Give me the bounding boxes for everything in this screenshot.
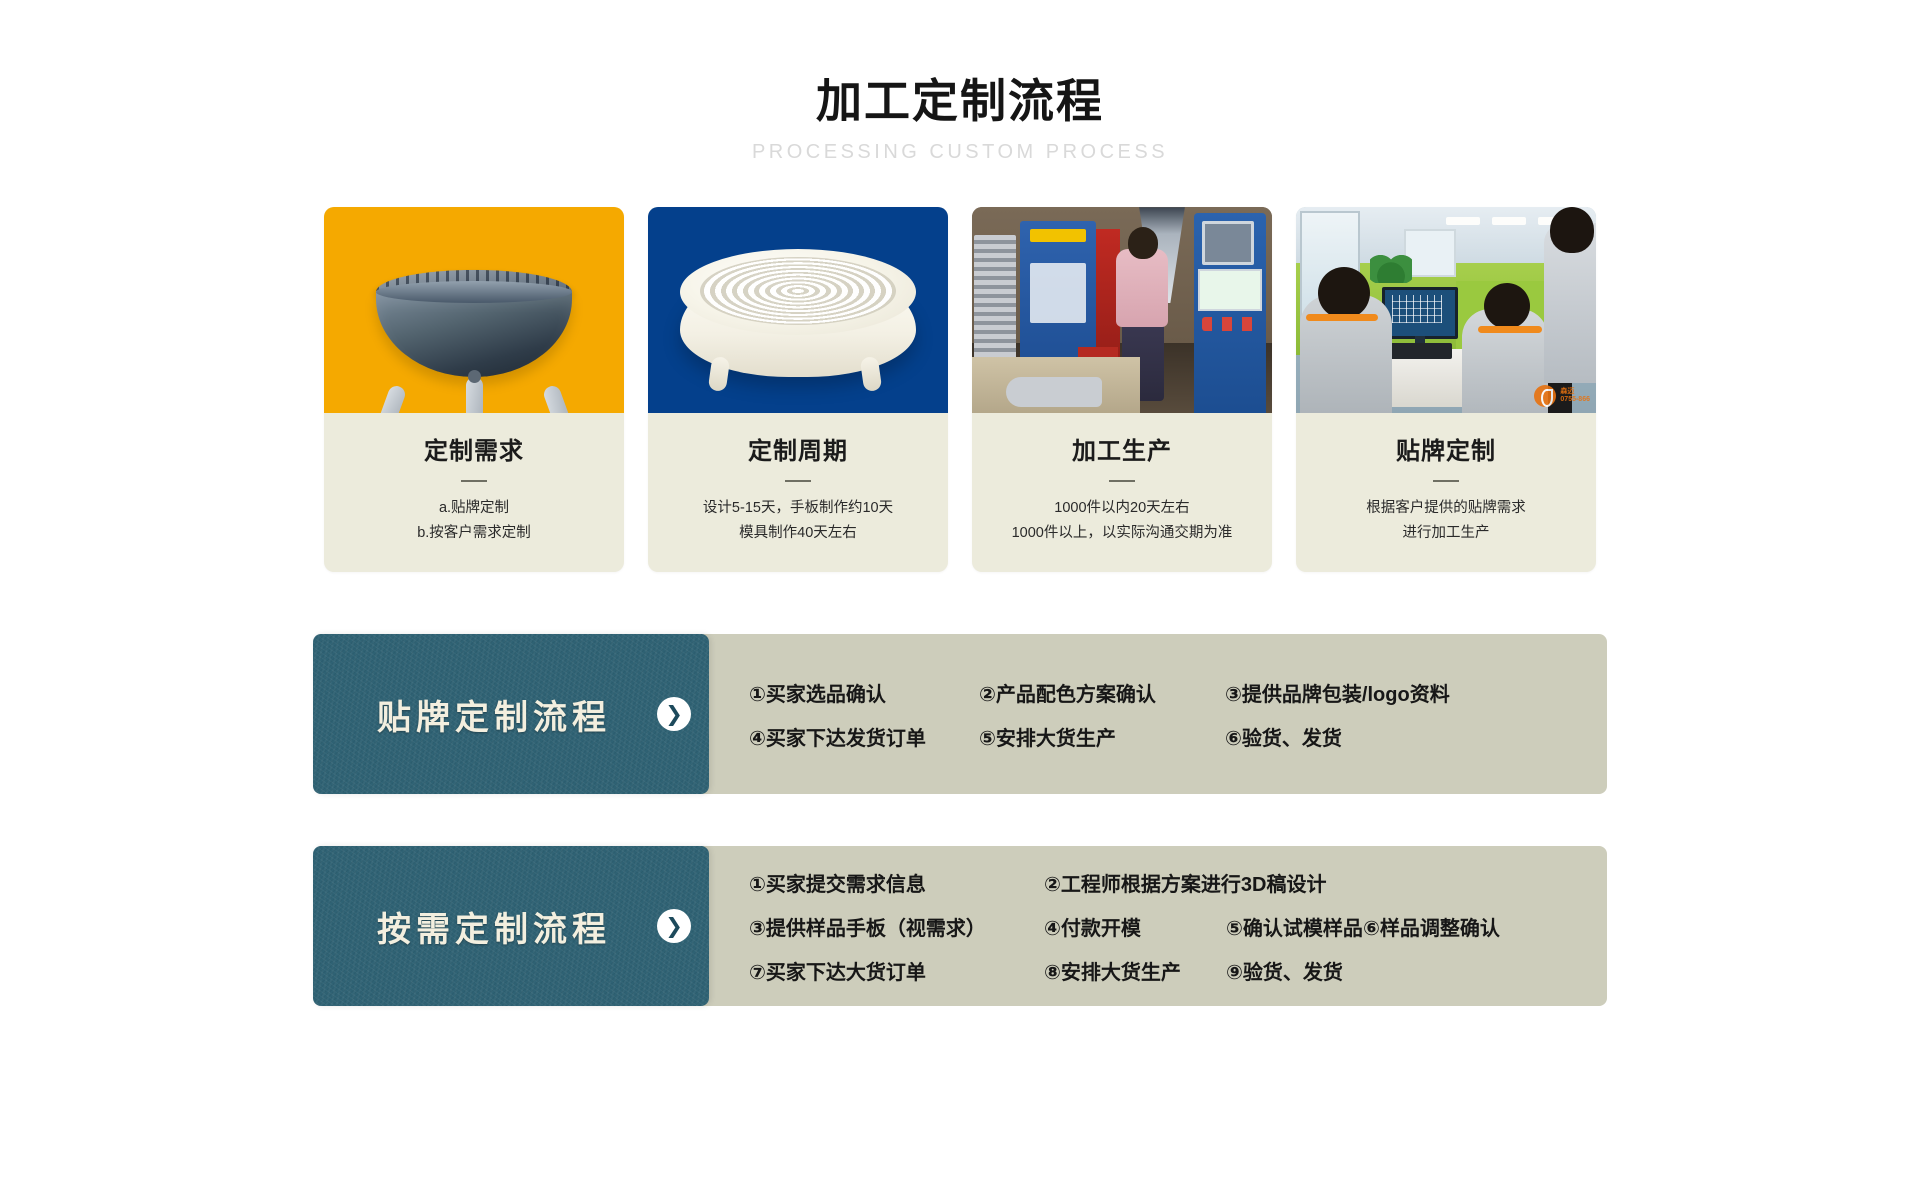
process-card-2[interactable]: 定制周期 设计5-15天，手板制作约10天 模具制作40天左右	[648, 207, 948, 572]
office-light-1	[1446, 217, 1480, 225]
card-4-desc-line-1: 根据客户提供的贴牌需求	[1310, 496, 1582, 521]
ondemand-step-8: ⑧安排大货生产	[1044, 956, 1226, 985]
ondemand-step-4: ④付款开模	[1044, 912, 1226, 941]
card-1-divider	[461, 480, 487, 482]
ondemand-step-5: ⑤确认试模样品	[1226, 912, 1363, 941]
ondemand-step-7: ⑦买家下达大货订单	[749, 956, 1044, 985]
factory-worker-head	[1128, 227, 1158, 259]
ondemand-step-1: ①买家提交需求信息	[749, 868, 1044, 897]
ondemand-steps-row-1: ①买家提交需求信息 ②工程师根据方案进行3D稿设计	[749, 860, 1591, 904]
oem-step-5: ⑤安排大货生产	[979, 722, 1225, 751]
watermark-logo-icon	[1534, 385, 1556, 407]
card-3-title: 加工生产	[986, 431, 1258, 466]
ondemand-step-6: ⑥样品调整确认	[1363, 912, 1500, 941]
card-2-title: 定制周期	[662, 431, 934, 466]
page-title: 加工定制流程	[0, 74, 1920, 129]
watermark-line-2: 0755-866	[1560, 396, 1590, 403]
office-person-center-collar	[1478, 326, 1542, 333]
company-watermark: 森迈 0755-866	[1534, 385, 1590, 407]
prototype-maze-pattern	[700, 257, 896, 325]
grill-bowl-shape	[376, 291, 572, 377]
ondemand-step-3: ③提供样品手板（视需求）	[749, 912, 1044, 941]
factory-worker-shirt	[1116, 249, 1168, 327]
oem-step-6: ⑥验货、发货	[1225, 722, 1342, 751]
ondemand-banner-label-panel: 按需定制流程 ❯	[313, 846, 709, 1006]
card-2-divider	[785, 480, 811, 482]
page-subtitle: PROCESSING CUSTOM PROCESS	[0, 141, 1920, 164]
oem-steps-row-2: ④买家下达发货订单 ⑤安排大货生产 ⑥验货、发货	[749, 714, 1587, 758]
card-4-divider	[1433, 480, 1459, 482]
process-card-4[interactable]: 森迈 0755-866 贴牌定制 根据客户提供的贴牌需求 进行加工生产	[1296, 207, 1596, 572]
office-light-2	[1492, 217, 1526, 225]
page-header: 加工定制流程 PROCESSING CUSTOM PROCESS	[0, 0, 1920, 164]
ondemand-step-2: ②工程师根据方案进行3D稿设计	[1044, 868, 1327, 897]
chevron-right-icon: ❯	[657, 697, 691, 731]
office-keyboard	[1388, 343, 1452, 359]
oem-step-3: ③提供品牌包装/logo资料	[1225, 678, 1450, 707]
card-4-body: 贴牌定制 根据客户提供的贴牌需求 进行加工生产	[1296, 413, 1596, 572]
oem-step-2: ②产品配色方案确认	[979, 678, 1225, 707]
oem-process-banner: 贴牌定制流程 ❯ ①买家选品确认 ②产品配色方案确认 ③提供品牌包装/logo资…	[313, 634, 1607, 794]
office-cad-drawing	[1392, 295, 1442, 323]
factory-console-screen-bottom	[1198, 269, 1262, 311]
page-root: 加工定制流程 PROCESSING CUSTOM PROCESS 定制需求 a.…	[0, 0, 1920, 1200]
card-3-divider	[1109, 480, 1135, 482]
card-2-body: 定制周期 设计5-15天，手板制作约10天 模具制作40天左右	[648, 413, 948, 572]
card-3-image-factory	[972, 207, 1272, 413]
ondemand-banner-steps: ①买家提交需求信息 ②工程师根据方案进行3D稿设计 ③提供样品手板（视需求） ④…	[701, 846, 1607, 1006]
card-4-image-office-cad: 森迈 0755-866	[1296, 207, 1596, 413]
ondemand-steps-row-3: ⑦买家下达大货订单 ⑧安排大货生产 ⑨验货、发货	[749, 948, 1591, 992]
process-card-3[interactable]: 加工生产 1000件以内20天左右 1000件以上，以实际沟通交期为准	[972, 207, 1272, 572]
card-1-body: 定制需求 a.贴牌定制 b.按客户需求定制	[324, 413, 624, 572]
grill-leg-center	[466, 377, 483, 413]
process-card-1[interactable]: 定制需求 a.贴牌定制 b.按客户需求定制	[324, 207, 624, 572]
card-3-body: 加工生产 1000件以内20天左右 1000件以上，以实际沟通交期为准	[972, 413, 1272, 572]
process-cards: 定制需求 a.贴牌定制 b.按客户需求定制 定制周期 设	[0, 207, 1920, 572]
oem-steps-row-1: ①买家选品确认 ②产品配色方案确认 ③提供品牌包装/logo资料	[749, 670, 1587, 714]
ondemand-process-banner: 按需定制流程 ❯ ①买家提交需求信息 ②工程师根据方案进行3D稿设计 ③提供样品…	[313, 846, 1607, 1006]
office-person-center-head	[1484, 283, 1530, 329]
card-1-desc-line-2: b.按客户需求定制	[338, 521, 610, 546]
oem-step-4: ④买家下达发货订单	[749, 722, 979, 751]
watermark-line-1: 森迈	[1560, 388, 1574, 395]
card-4-desc-line-2: 进行加工生产	[1310, 521, 1582, 546]
ondemand-banner-label: 按需定制流程	[377, 902, 645, 951]
card-2-image-white-prototype	[648, 207, 948, 413]
card-3-desc-line-1: 1000件以内20天左右	[986, 496, 1258, 521]
card-2-desc-line-2: 模具制作40天左右	[662, 521, 934, 546]
card-2-desc-line-1: 设计5-15天，手板制作约10天	[662, 496, 934, 521]
ondemand-steps-row-2: ③提供样品手板（视需求） ④付款开模 ⑤确认试模样品 ⑥样品调整确认	[749, 904, 1591, 948]
office-person-right-head	[1550, 207, 1594, 253]
grill-leg-right	[542, 384, 576, 413]
factory-warning-label	[1030, 229, 1086, 242]
oem-banner-label: 贴牌定制流程	[377, 690, 645, 739]
card-3-desc-line-2: 1000件以上，以实际沟通交期为准	[986, 521, 1258, 546]
grill-leg-left	[374, 384, 408, 413]
oem-banner-label-panel: 贴牌定制流程 ❯	[313, 634, 709, 794]
factory-console-buttons	[1202, 317, 1260, 331]
factory-molded-part	[1006, 377, 1102, 407]
office-plant	[1370, 249, 1412, 283]
office-person-left-head	[1318, 267, 1370, 319]
card-1-title: 定制需求	[338, 431, 610, 466]
card-1-desc-line-1: a.贴牌定制	[338, 496, 610, 521]
factory-console-screen-top	[1202, 221, 1254, 265]
card-4-title: 贴牌定制	[1310, 431, 1582, 466]
oem-banner-steps: ①买家选品确认 ②产品配色方案确认 ③提供品牌包装/logo资料 ④买家下达发货…	[701, 634, 1607, 794]
ondemand-step-9: ⑨验货、发货	[1226, 956, 1343, 985]
chevron-right-icon: ❯	[657, 909, 691, 943]
card-1-image-exploded-grill	[324, 207, 624, 413]
prototype-foot-left	[708, 356, 731, 392]
office-person-left-collar	[1306, 314, 1378, 321]
oem-step-1: ①买家选品确认	[749, 678, 979, 707]
